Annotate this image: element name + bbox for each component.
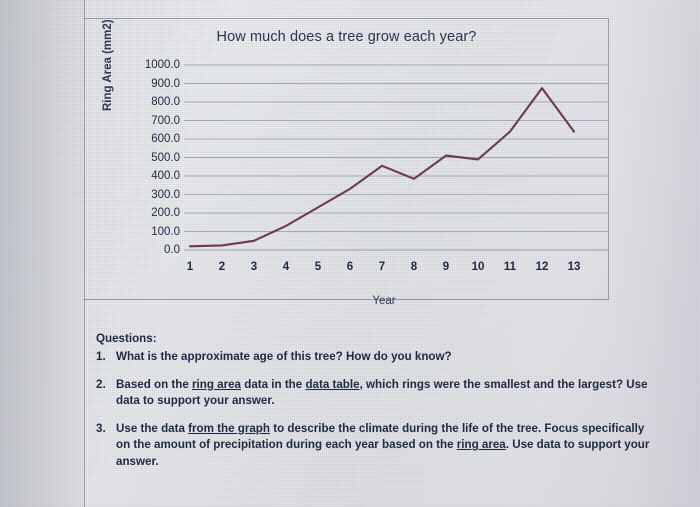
x-axis-tick: 12 (529, 261, 555, 273)
question-text: Based on the ring area data in the data … (116, 377, 656, 410)
question-underlined-term: ring area (192, 378, 241, 391)
y-axis-tick: 400.0 (116, 170, 180, 182)
x-axis-tick: 2 (209, 261, 235, 273)
x-axis-tick: 5 (305, 261, 331, 273)
x-axis-tick: 9 (433, 261, 459, 273)
question-text-run: data in the (241, 378, 305, 391)
y-axis-tick: 600.0 (116, 133, 180, 145)
x-axis-tick: 8 (401, 261, 427, 273)
chart-container: How much does a tree grow each year? Rin… (84, 18, 609, 300)
question-number: 2. (96, 377, 116, 410)
question-text: Use the data from the graph to describe … (116, 421, 656, 470)
y-axis-tick: 300.0 (116, 189, 180, 201)
y-axis-tick: 0.0 (116, 244, 180, 256)
x-axis-tick: 11 (497, 261, 523, 273)
question-text-run: Use the data (116, 422, 188, 435)
y-axis-tick: 200.0 (116, 207, 180, 219)
question-underlined-term: ring area (457, 438, 506, 451)
questions-list: 1.What is the approximate age of this tr… (96, 349, 656, 470)
y-axis-tick: 1000.0 (116, 59, 180, 71)
question-text-run: Based on the (116, 378, 192, 391)
y-axis-tick: 500.0 (116, 152, 180, 164)
plot-area: 1000.0900.0800.0700.0600.0500.0400.0300.… (84, 19, 609, 301)
y-axis-tick: 900.0 (116, 78, 180, 90)
y-axis-tick: 800.0 (116, 96, 180, 108)
question-number: 3. (96, 421, 116, 470)
ring-area-line-series (190, 88, 574, 246)
question-text-run: What is the approximate age of this tree… (116, 350, 452, 363)
x-axis-tick: 10 (465, 261, 491, 273)
questions-heading: Questions: (96, 331, 656, 347)
question-text: What is the approximate age of this tree… (116, 349, 656, 365)
x-axis-tick: 6 (337, 261, 363, 273)
x-axis-tick: 4 (273, 261, 299, 273)
x-axis-tick: 13 (561, 261, 587, 273)
x-axis-tick: 1 (177, 261, 203, 273)
question-item: 3.Use the data from the graph to describ… (96, 421, 656, 470)
x-axis-tick: 7 (369, 261, 395, 273)
question-underlined-term: from the graph (188, 422, 270, 435)
question-item: 1.What is the approximate age of this tr… (96, 349, 656, 365)
page-left-shadow-band (0, 0, 85, 507)
x-axis-label: Year (372, 295, 395, 307)
y-axis-tick: 100.0 (116, 226, 180, 238)
question-item: 2.Based on the ring area data in the dat… (96, 377, 656, 410)
question-underlined-term: data table (305, 378, 359, 391)
y-axis-tick: 700.0 (116, 115, 180, 127)
question-number: 1. (96, 349, 116, 365)
questions-section: Questions: 1.What is the approximate age… (96, 331, 656, 470)
x-axis-tick: 3 (241, 261, 267, 273)
